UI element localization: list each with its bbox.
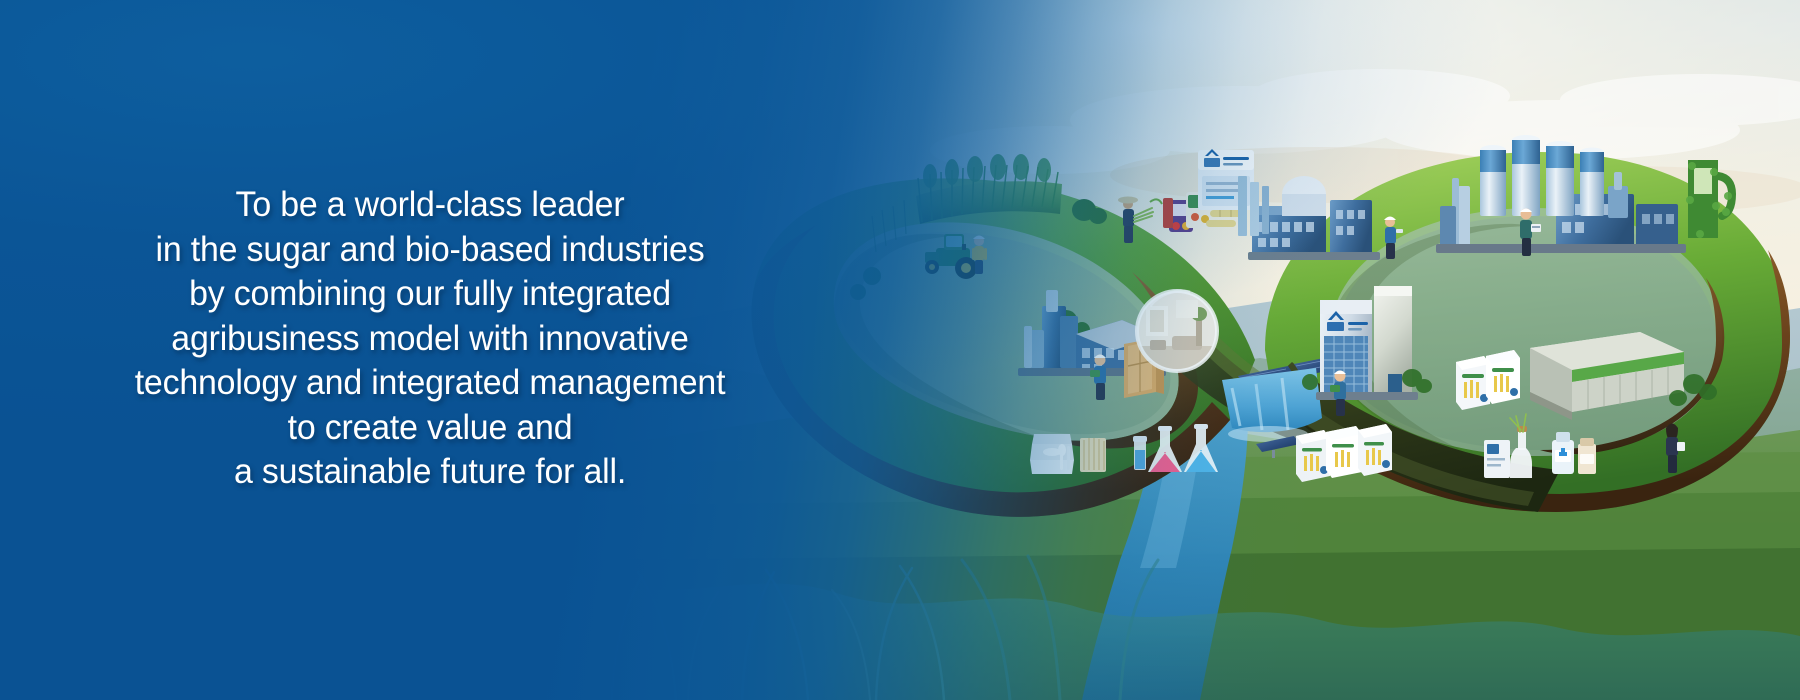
vision-banner: To be a world-class leader in the sugar … — [0, 0, 1800, 700]
vision-line-4: agribusiness model with innovative — [19, 316, 840, 361]
vision-line-6: to create value and — [19, 405, 840, 450]
paper-straws — [1080, 438, 1106, 472]
vision-line-3: by combining our fully integrated — [19, 271, 840, 316]
vision-line-5: technology and integrated management — [19, 360, 840, 405]
vision-statement: To be a world-class leader in the sugar … — [0, 182, 860, 494]
vision-line-2: in the sugar and bio-based industries — [19, 227, 840, 272]
lab-vial — [1133, 436, 1147, 470]
bioplastic-lunchbox — [1030, 434, 1074, 474]
vision-line-1: To be a world-class leader — [19, 182, 840, 227]
vision-line-7: a sustainable future for all. — [19, 449, 840, 494]
interior-living-room — [1137, 291, 1217, 371]
supplement-jar — [1578, 438, 1596, 474]
